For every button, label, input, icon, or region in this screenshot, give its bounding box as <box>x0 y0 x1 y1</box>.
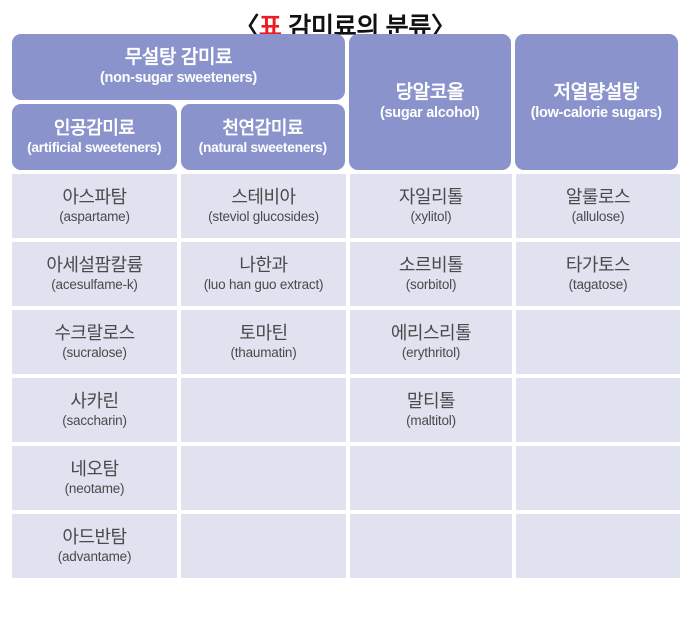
cell-label-en: (sucralose) <box>62 345 127 361</box>
table-cell: 나한과 (luo han guo extract) <box>181 242 346 306</box>
cell-label-en: (erythritol) <box>402 345 460 361</box>
header-sugar-alcohol-label-en: (sugar alcohol) <box>380 105 479 122</box>
table-cell-empty <box>350 446 512 510</box>
cell-label-en: (luo han guo extract) <box>204 277 324 293</box>
cell-label-en: (thaumatin) <box>230 345 296 361</box>
header-artificial-label-ko: 인공감미료 <box>54 118 135 139</box>
cell-label-ko: 타가토스 <box>566 255 630 277</box>
header-natural-label-ko: 천연감미료 <box>222 118 303 139</box>
sweetener-classification-table: 무설탕 감미료 (non-sugar sweeteners) 인공감미료 (ar… <box>12 34 678 580</box>
table-cell: 아스파탐 (aspartame) <box>12 174 177 238</box>
header-artificial-label-en: (artificial sweeteners) <box>27 140 161 156</box>
cell-label-ko: 아드반탐 <box>62 527 126 549</box>
cell-label-ko: 아세설팜칼륨 <box>46 255 142 277</box>
cell-label-ko: 소르비톨 <box>399 255 463 277</box>
cell-label-en: (xylitol) <box>411 209 452 225</box>
table-cell: 네오탐 (neotame) <box>12 446 177 510</box>
table-cell: 수크랄로스 (sucralose) <box>12 310 177 374</box>
table-cell-empty <box>516 310 680 374</box>
table-cell: 아세설팜칼륨 (acesulfame-k) <box>12 242 177 306</box>
table-cell-empty <box>516 446 680 510</box>
cell-label-en: (acesulfame-k) <box>51 277 137 293</box>
cell-label-en: (neotame) <box>65 481 125 497</box>
table-cell: 소르비톨 (sorbitol) <box>350 242 512 306</box>
table-cell: 토마틴 (thaumatin) <box>181 310 346 374</box>
table-cell-empty <box>350 514 512 578</box>
header-group-non-sugar-sweeteners: 무설탕 감미료 (non-sugar sweeteners) <box>12 34 345 100</box>
table-cell: 알룰로스 (allulose) <box>516 174 680 238</box>
cell-label-ko: 수크랄로스 <box>54 323 134 345</box>
header-low-calorie-label-en: (low-calorie sugars) <box>531 105 662 122</box>
table-cell: 타가토스 (tagatose) <box>516 242 680 306</box>
table-cell: 말티톨 (maltitol) <box>350 378 512 442</box>
table-cell: 아드반탐 (advantame) <box>12 514 177 578</box>
cell-label-en: (saccharin) <box>62 413 127 429</box>
cell-label-ko: 토마틴 <box>239 323 287 345</box>
header-column-low-calorie-sugars: 저열량설탕 (low-calorie sugars) <box>515 34 679 170</box>
header-low-calorie-label-ko: 저열량설탕 <box>554 82 639 104</box>
header-natural-label-en: (natural sweeteners) <box>199 140 327 156</box>
table-header: 무설탕 감미료 (non-sugar sweeteners) 인공감미료 (ar… <box>12 34 678 170</box>
cell-label-ko: 말티톨 <box>407 391 455 413</box>
header-group-label-en: (non-sugar sweeteners) <box>100 70 257 87</box>
table-cell-empty <box>181 446 346 510</box>
cell-label-ko: 자일리톨 <box>399 187 463 209</box>
cell-label-ko: 사카린 <box>70 391 118 413</box>
header-column-artificial-sweeteners: 인공감미료 (artificial sweeteners) <box>12 104 177 170</box>
cell-label-en: (aspartame) <box>59 209 130 225</box>
table-cell: 에리스리톨 (erythritol) <box>350 310 512 374</box>
cell-label-en: (sorbitol) <box>406 277 457 293</box>
cell-label-ko: 네오탐 <box>70 459 118 481</box>
cell-label-en: (tagatose) <box>569 277 628 293</box>
header-group-label-ko: 무설탕 감미료 <box>125 47 232 69</box>
table-cell: 사카린 (saccharin) <box>12 378 177 442</box>
cell-label-en: (allulose) <box>572 209 625 225</box>
header-column-sugar-alcohol: 당알코올 (sugar alcohol) <box>349 34 511 170</box>
table-cell-empty <box>181 378 346 442</box>
header-subcolumn-row: 인공감미료 (artificial sweeteners) 천연감미료 (nat… <box>12 104 345 170</box>
cell-label-ko: 알룰로스 <box>566 187 630 209</box>
header-sugar-alcohol-label-ko: 당알코올 <box>396 82 464 104</box>
cell-label-en: (advantame) <box>58 549 132 565</box>
cell-label-en: (maltitol) <box>406 413 456 429</box>
table-cell-empty <box>516 378 680 442</box>
table-body: 아스파탐 (aspartame) 스테비아 (steviol glucoside… <box>12 174 678 578</box>
cell-label-ko: 아스파탐 <box>62 187 126 209</box>
cell-label-en: (steviol glucosides) <box>208 209 319 225</box>
table-cell: 자일리톨 (xylitol) <box>350 174 512 238</box>
cell-label-ko: 나한과 <box>239 255 287 277</box>
cell-label-ko: 에리스리톨 <box>391 323 471 345</box>
cell-label-ko: 스테비아 <box>231 187 295 209</box>
table-cell-empty <box>181 514 346 578</box>
table-cell: 스테비아 (steviol glucosides) <box>181 174 346 238</box>
header-column-natural-sweeteners: 천연감미료 (natural sweeteners) <box>181 104 346 170</box>
table-cell-empty <box>516 514 680 578</box>
non-sugar-sweetener-group: 무설탕 감미료 (non-sugar sweeteners) 인공감미료 (ar… <box>12 34 345 170</box>
page-title: 〈표 감미료의 분류〉 <box>0 0 690 34</box>
